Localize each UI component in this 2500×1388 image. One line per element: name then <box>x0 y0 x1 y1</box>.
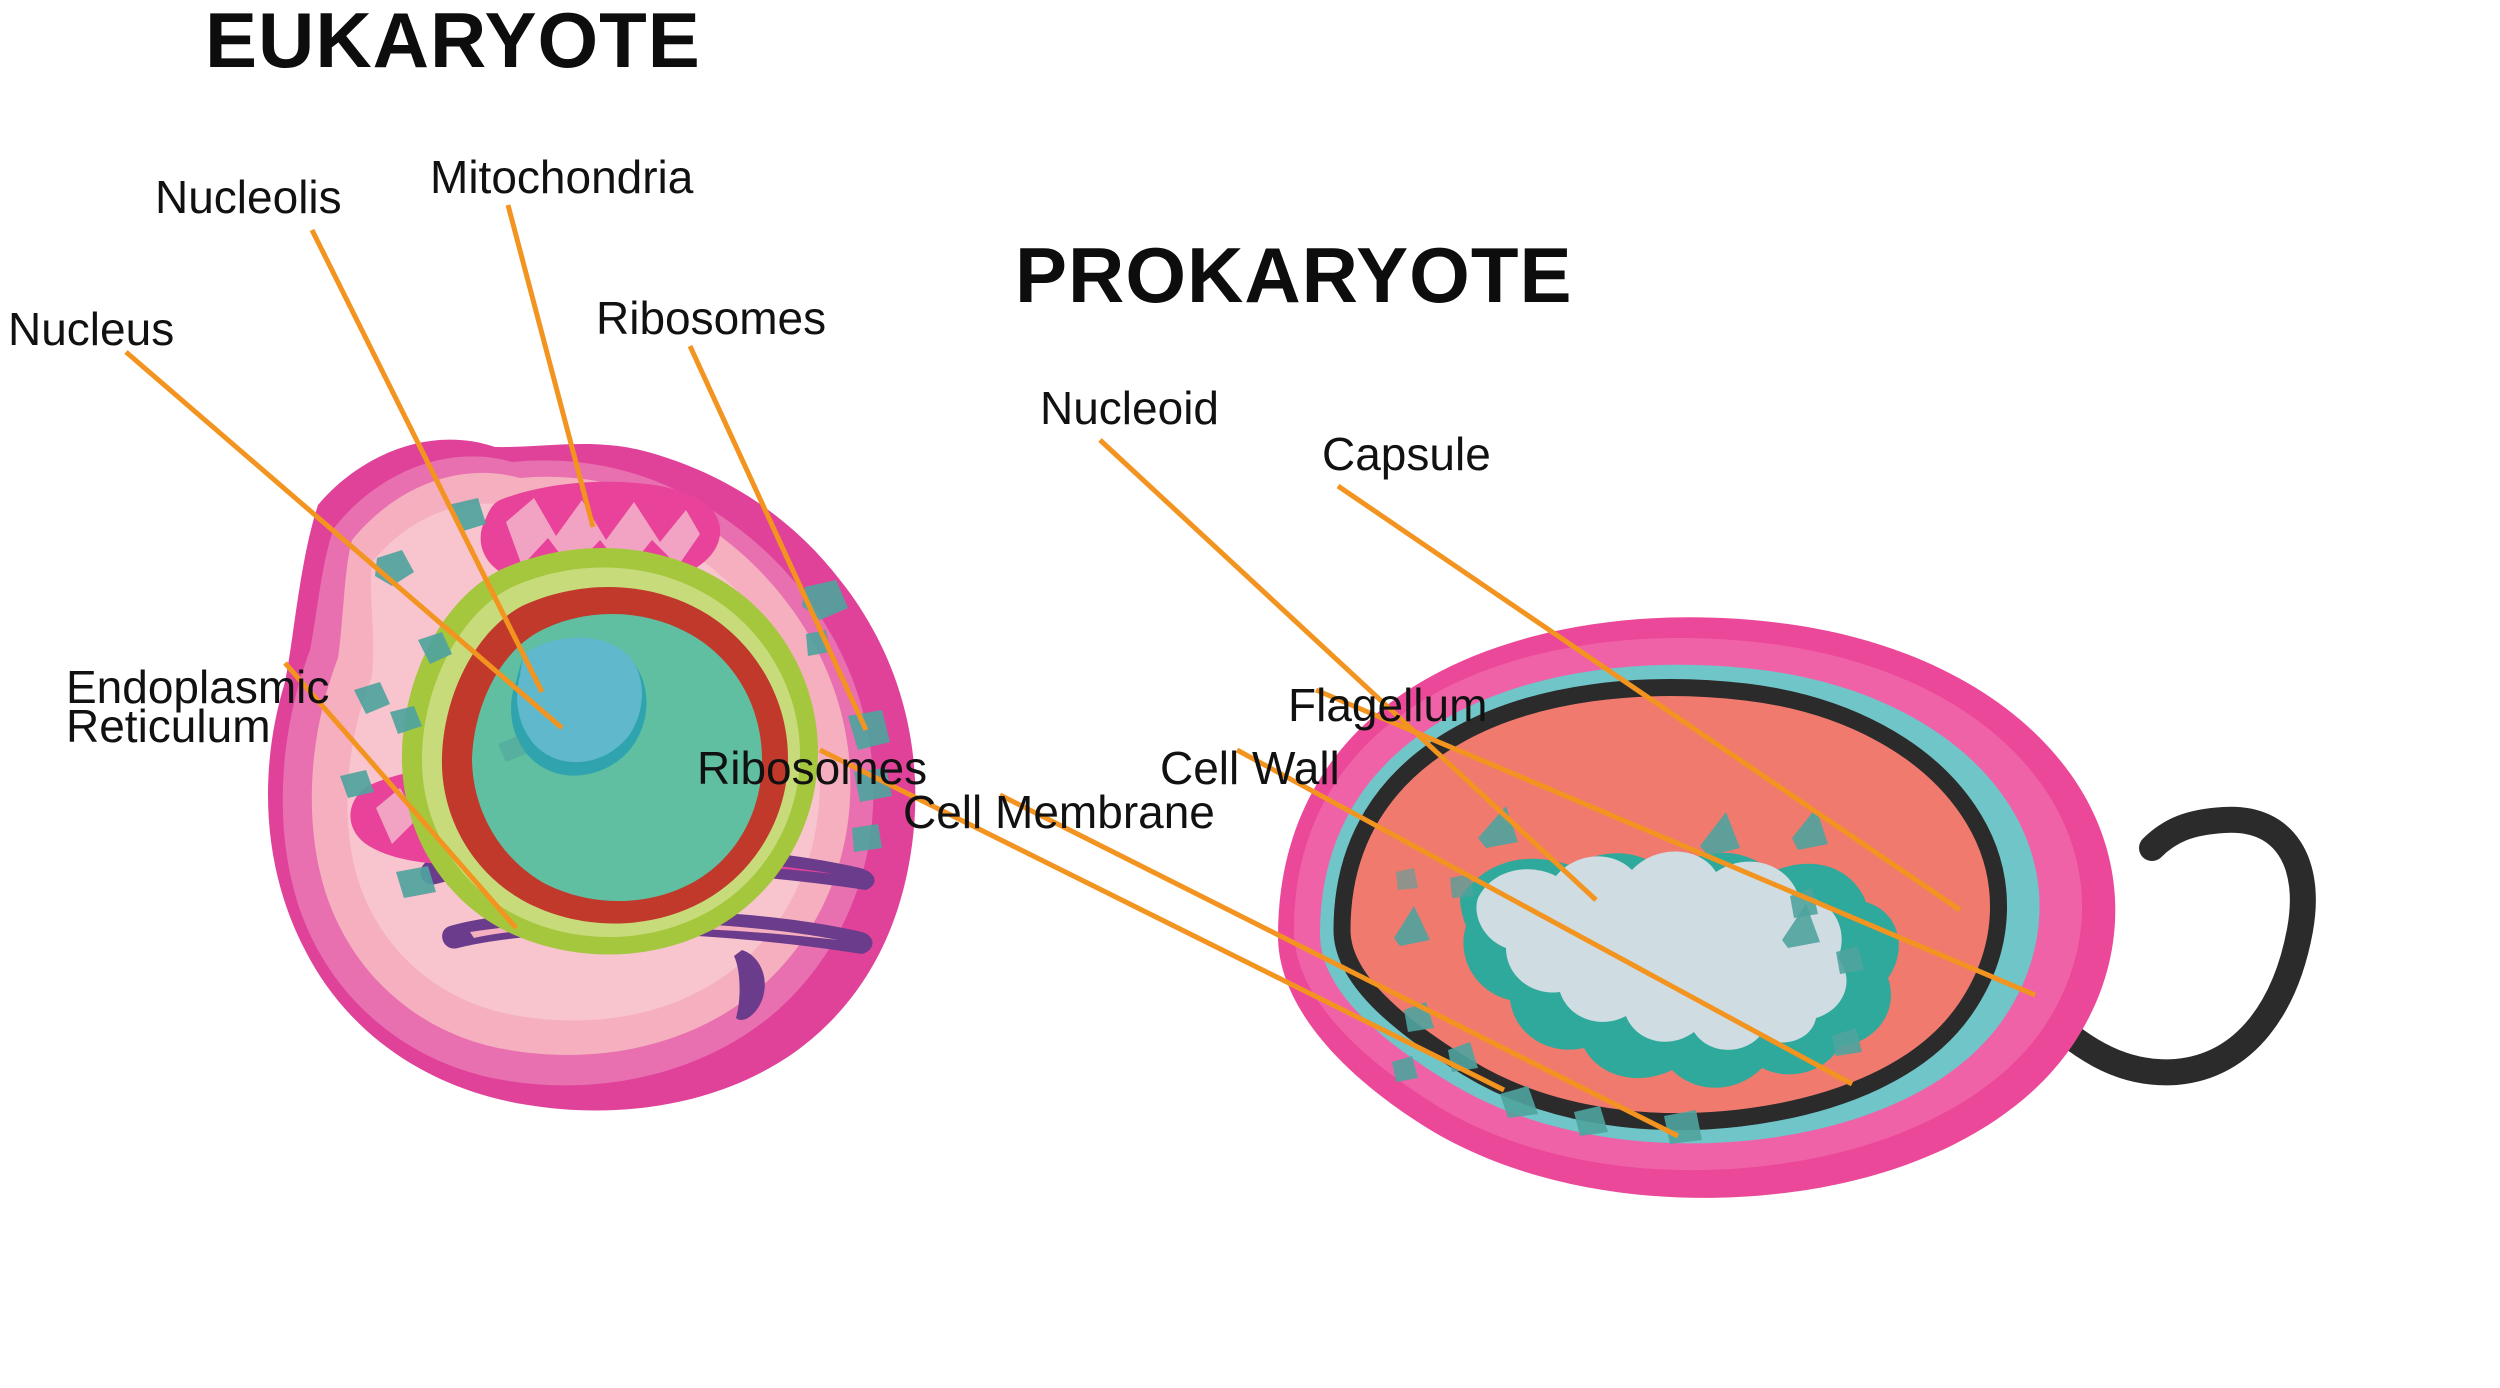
label-capsule: Capsule <box>1322 428 1491 480</box>
label-cell-wall: Cell Wall <box>1160 742 1340 794</box>
page-title-eukaryote: EUKARYOTE <box>205 0 701 84</box>
label-ribosomes-eukaryote: Ribosomes <box>596 292 826 344</box>
page-title-prokaryote: PROKARYOTE <box>1015 231 1573 319</box>
diagram-canvas: EUKARYOTE PROKARYOTE Nucleolis Mitochond… <box>0 0 2500 1388</box>
label-nucleolis: Nucleolis <box>155 171 342 223</box>
label-flagellum: Flagellum <box>1288 679 1487 731</box>
label-nucleoid: Nucleoid <box>1040 382 1219 434</box>
cell-comparison-diagram: EUKARYOTE PROKARYOTE Nucleolis Mitochond… <box>0 0 2500 1388</box>
label-ribosomes-prokaryote: Ribosomes <box>697 742 927 794</box>
label-nucleus: Nucleus <box>8 303 174 355</box>
label-endoplasmic-reticulum-line2: Reticulum <box>66 700 271 752</box>
label-mitochondria: Mitochondria <box>430 151 694 203</box>
